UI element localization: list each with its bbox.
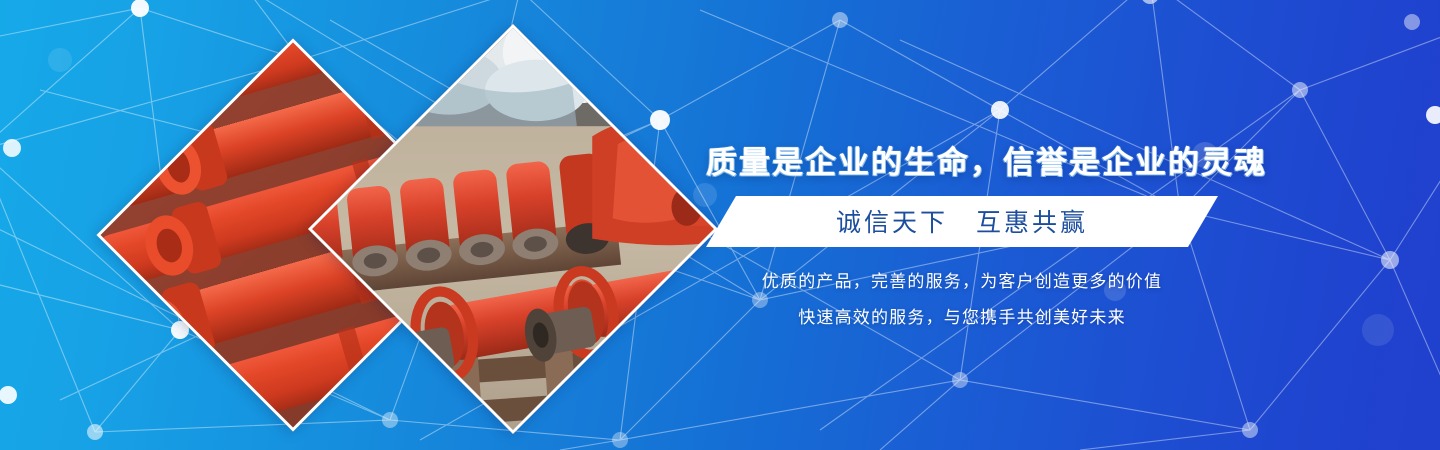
subline-one: 优质的产品，完善的服务，为客户创造更多的价值: [706, 267, 1218, 292]
slogan-ribbon: 诚信天下 互惠共赢: [706, 196, 1218, 247]
subline-two: 快速高效的服务，与您携手共创美好未来: [706, 303, 1218, 328]
headline: 质量是企业的生命，信誉是企业的灵魂: [706, 137, 1236, 182]
slogan-ribbon-text: 诚信天下 互惠共赢: [706, 196, 1218, 247]
promo-banner: 质量是企业的生命，信誉是企业的灵魂 诚信天下 互惠共赢 优质的产品，完善的服务，…: [0, 0, 1440, 450]
